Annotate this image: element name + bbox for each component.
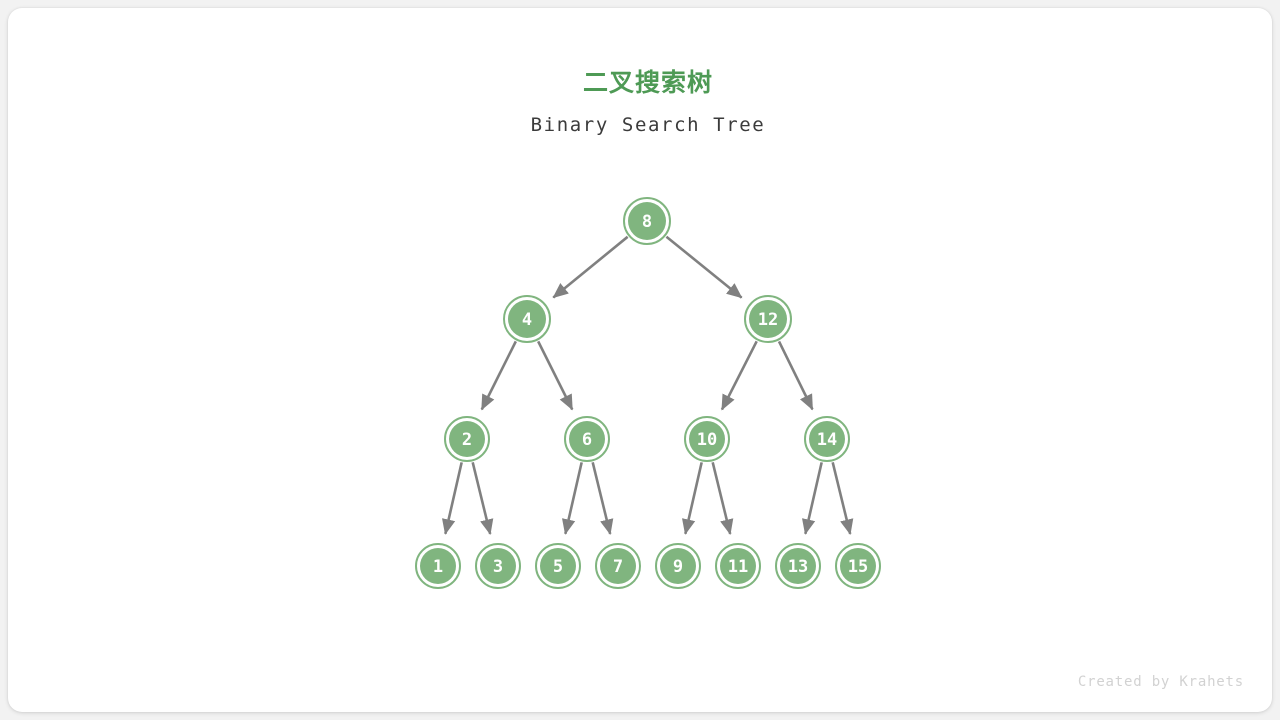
tree-node[interactable]: 6 xyxy=(565,417,609,461)
tree-node-value: 4 xyxy=(522,310,532,330)
tree-edge xyxy=(833,462,850,534)
tree-edge xyxy=(685,462,701,533)
tree-node[interactable]: 7 xyxy=(596,544,640,588)
tree-node-value: 12 xyxy=(758,310,778,330)
tree-node-value: 7 xyxy=(613,557,623,577)
tree-edge xyxy=(473,462,490,534)
tree-edge xyxy=(722,341,757,409)
tree-node[interactable]: 10 xyxy=(685,417,729,461)
tree-node[interactable]: 4 xyxy=(504,296,550,342)
tree-edge xyxy=(445,462,461,533)
tree-edge xyxy=(482,341,516,409)
tree-edge xyxy=(565,462,581,533)
tree-node-value: 2 xyxy=(462,430,472,450)
tree-edge xyxy=(779,341,812,409)
tree-edge xyxy=(553,237,627,298)
tree-node[interactable]: 5 xyxy=(536,544,580,588)
binary-search-tree-diagram: 841226101413579111315 xyxy=(8,8,1272,712)
tree-node-value: 11 xyxy=(728,557,748,577)
tree-node-value: 3 xyxy=(493,557,503,577)
tree-node-value: 6 xyxy=(582,430,592,450)
tree-edge xyxy=(538,341,572,409)
tree-node[interactable]: 13 xyxy=(776,544,820,588)
tree-nodes: 841226101413579111315 xyxy=(416,198,880,588)
diagram-card: 二叉搜索树 Binary Search Tree 841226101413579… xyxy=(8,8,1272,712)
tree-node[interactable]: 12 xyxy=(745,296,791,342)
tree-node-value: 13 xyxy=(788,557,808,577)
tree-node[interactable]: 8 xyxy=(624,198,670,244)
tree-edges xyxy=(445,237,850,534)
tree-node-value: 8 xyxy=(642,212,652,232)
tree-node[interactable]: 3 xyxy=(476,544,520,588)
footer-credit: Created by Krahets xyxy=(1078,674,1244,690)
tree-node-value: 9 xyxy=(673,557,683,577)
tree-node-value: 14 xyxy=(817,430,837,450)
tree-node[interactable]: 11 xyxy=(716,544,760,588)
tree-node-value: 1 xyxy=(433,557,443,577)
page-canvas: 二叉搜索树 Binary Search Tree 841226101413579… xyxy=(0,0,1280,720)
tree-node-value: 10 xyxy=(697,430,717,450)
tree-edge xyxy=(666,237,741,298)
tree-edge xyxy=(805,462,821,533)
tree-node[interactable]: 1 xyxy=(416,544,460,588)
tree-node[interactable]: 15 xyxy=(836,544,880,588)
tree-node-value: 5 xyxy=(553,557,563,577)
tree-node-value: 15 xyxy=(848,557,868,577)
tree-edge xyxy=(713,462,730,534)
tree-edge xyxy=(593,462,610,534)
tree-node[interactable]: 2 xyxy=(445,417,489,461)
tree-node[interactable]: 14 xyxy=(805,417,849,461)
tree-node[interactable]: 9 xyxy=(656,544,700,588)
